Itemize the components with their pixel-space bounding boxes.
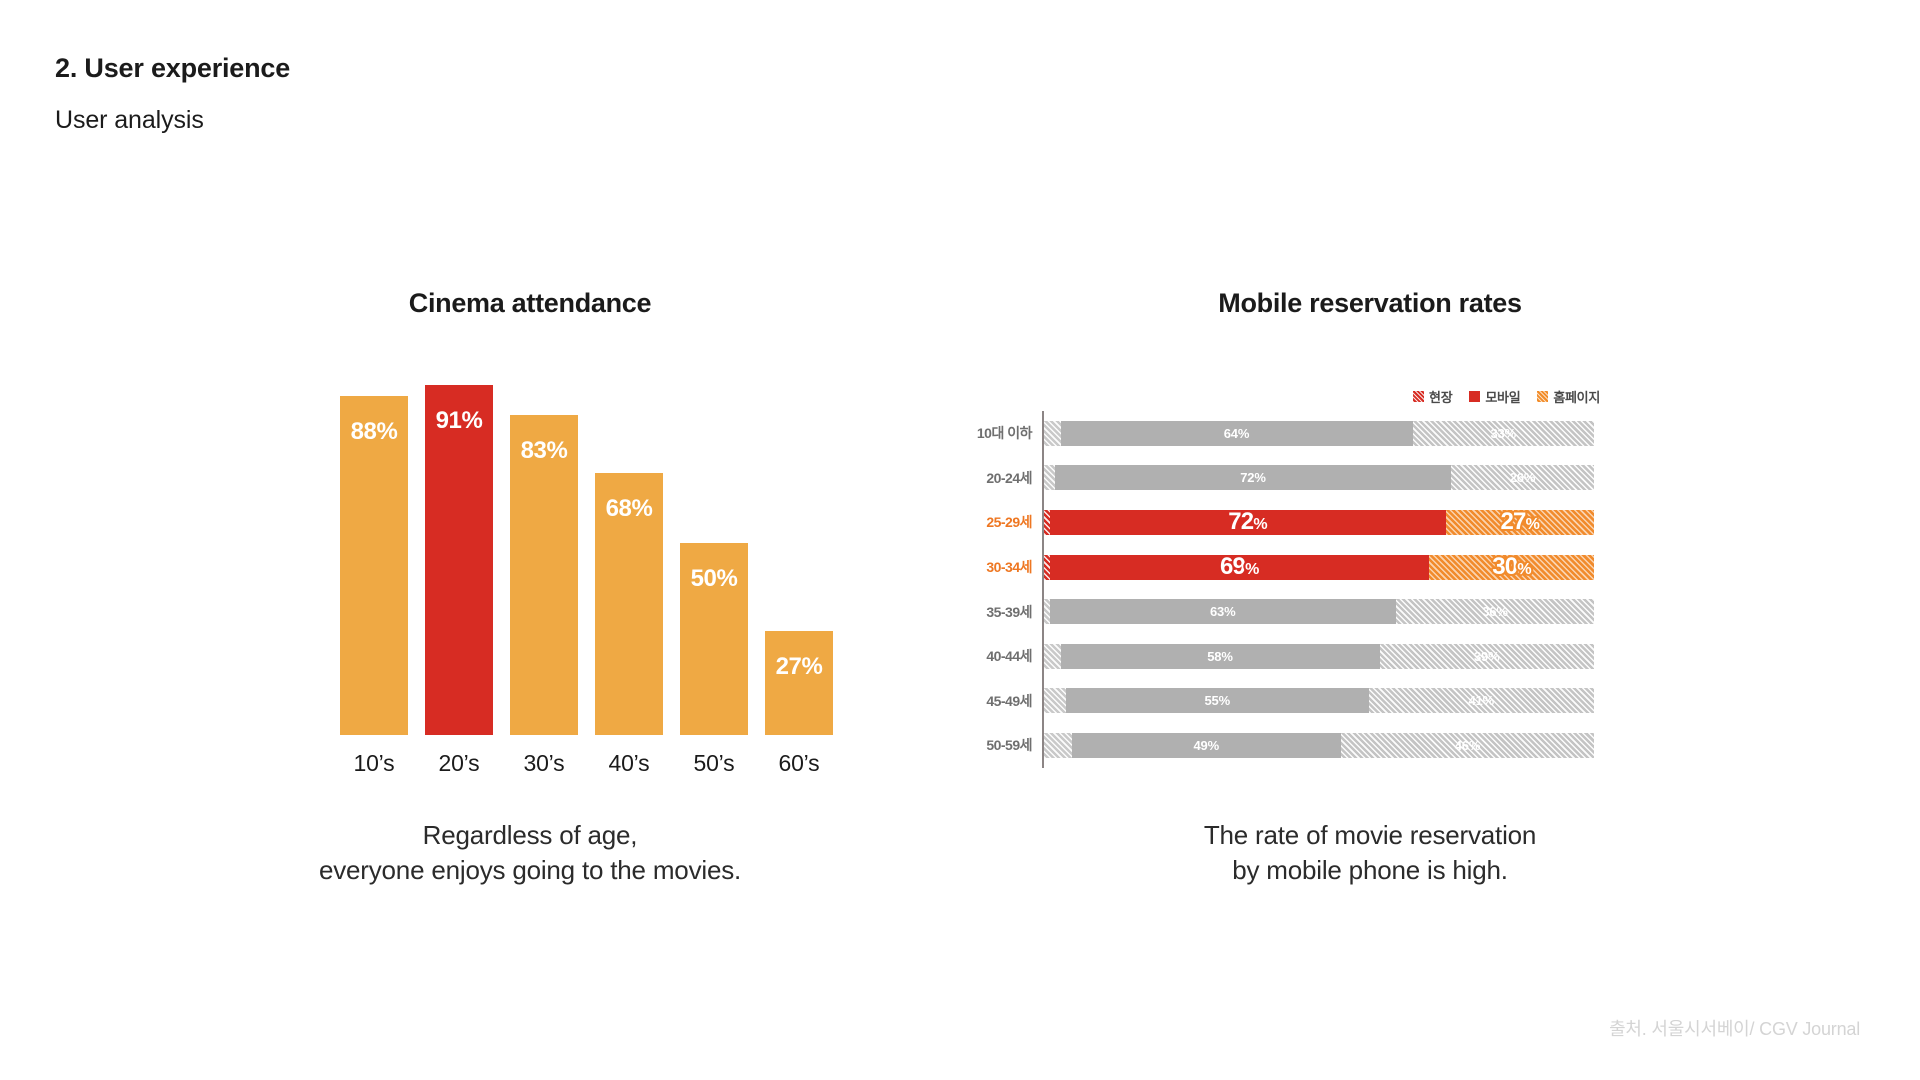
segment-value-label: 72% [1240, 470, 1265, 485]
stacked-bar-track: 72%26% [1044, 465, 1594, 490]
segment-homepage: 36% [1396, 599, 1594, 624]
segment-onsite [1044, 644, 1061, 669]
stacked-bar-row[interactable]: 25-29세72%27% [960, 500, 1600, 545]
stacked-bar-row-label: 45-49세 [960, 691, 1038, 711]
column-bar: 68% [595, 473, 663, 735]
column-bar: 88% [340, 396, 408, 735]
chart-title-mobile-reservation: Mobile reservation rates [900, 288, 1840, 319]
caption-line-1: Regardless of age, [120, 818, 940, 853]
column-axis-label: 30’s [510, 750, 578, 777]
column-axis-label: 50’s [680, 750, 748, 777]
stacked-bar-row[interactable]: 10대 이하64%33% [960, 411, 1600, 456]
segment-mobile: 72% [1050, 510, 1446, 535]
column-chart: 88%91%83%68%50%27% [340, 350, 850, 735]
segment-onsite [1044, 733, 1072, 758]
stacked-bar-row-label: 30-34세 [960, 557, 1038, 577]
stacked-bar-row[interactable]: 50-59세49%46% [960, 723, 1600, 768]
stacked-bar-track: 72%27% [1044, 510, 1594, 535]
column-bar-group: 68% [595, 350, 663, 735]
segment-value-label: 49% [1194, 738, 1219, 753]
segment-mobile: 69% [1050, 555, 1430, 580]
stacked-bar-row-label: 40-44세 [960, 646, 1038, 666]
stacked-bar-track: 49%46% [1044, 733, 1594, 758]
segment-mobile: 63% [1050, 599, 1397, 624]
segment-value-label: 30% [1492, 555, 1531, 579]
segment-value-label: 46% [1455, 738, 1480, 753]
stacked-bar-rows: 10대 이하64%33%20-24세72%26%25-29세72%27%30-3… [960, 411, 1600, 768]
segment-homepage: 30% [1429, 555, 1594, 580]
legend-label: 모바일 [1485, 387, 1520, 406]
segment-value-label: 26% [1510, 470, 1535, 485]
caption-line-1: The rate of movie reservation [900, 818, 1840, 853]
column-bar-group: 91% [425, 350, 493, 735]
segment-homepage: 39% [1380, 644, 1595, 669]
column-bar-group: 50% [680, 350, 748, 735]
page-subtitle: User analysis [55, 105, 290, 135]
legend-swatch-icon [1469, 391, 1480, 402]
stacked-bar-row[interactable]: 35-39세63%36% [960, 589, 1600, 634]
column-axis-label: 10’s [340, 750, 408, 777]
segment-onsite [1044, 465, 1055, 490]
stacked-bar-track: 55%41% [1044, 688, 1594, 713]
column-bar-group: 27% [765, 350, 833, 735]
segment-value-label: 33% [1491, 426, 1516, 441]
stacked-bar-row[interactable]: 30-34세69%30% [960, 545, 1600, 590]
segment-value-label: 58% [1207, 649, 1232, 664]
legend-swatch-icon [1537, 391, 1548, 402]
legend-item[interactable]: 모바일 [1469, 387, 1520, 406]
stacked-bar-row-label: 50-59세 [960, 735, 1038, 755]
segment-value-label: 69% [1220, 555, 1259, 579]
stacked-bar-row-label: 20-24세 [960, 468, 1038, 488]
segment-value-label: 36% [1482, 604, 1507, 619]
stacked-bar-row-label: 25-29세 [960, 512, 1038, 532]
segment-mobile: 64% [1061, 421, 1413, 446]
segment-mobile: 58% [1061, 644, 1380, 669]
chart-legend: 현장모바일홈페이지 [1413, 385, 1600, 407]
stacked-bar-row-label: 35-39세 [960, 602, 1038, 622]
segment-value-label: 63% [1210, 604, 1235, 619]
column-bar: 91% [425, 385, 493, 735]
column-chart-x-axis: 10’s20’s30’s40’s50’s60’s [340, 750, 850, 784]
column-bar-value: 88% [340, 418, 408, 446]
source-attribution: 출처. 서울시서베이/ CGV Journal [1609, 1015, 1860, 1041]
segment-onsite [1044, 421, 1061, 446]
column-bar-value: 68% [595, 495, 663, 523]
column-bar-group: 88% [340, 350, 408, 735]
column-bar: 83% [510, 415, 578, 735]
legend-item[interactable]: 홈페이지 [1537, 387, 1600, 406]
segment-homepage: 27% [1446, 510, 1595, 535]
stacked-bar-track: 69%30% [1044, 555, 1594, 580]
legend-item[interactable]: 현장 [1413, 387, 1452, 406]
stacked-bar-row[interactable]: 45-49세55%41% [960, 679, 1600, 724]
segment-homepage: 33% [1413, 421, 1595, 446]
segment-mobile: 55% [1066, 688, 1369, 713]
slide-header: 2. User experience User analysis [55, 52, 290, 135]
segment-value-label: 39% [1474, 649, 1499, 664]
segment-value-label: 55% [1205, 693, 1230, 708]
segment-onsite [1044, 688, 1066, 713]
column-bar-value: 83% [510, 437, 578, 465]
caption-line-2: by mobile phone is high. [900, 853, 1840, 888]
caption-line-2: everyone enjoys going to the movies. [120, 853, 940, 888]
legend-swatch-icon [1413, 391, 1424, 402]
segment-homepage: 26% [1451, 465, 1594, 490]
segment-mobile: 49% [1072, 733, 1342, 758]
segment-mobile: 72% [1055, 465, 1451, 490]
column-bar-value: 91% [425, 407, 493, 435]
column-axis-label: 40’s [595, 750, 663, 777]
segment-value-label: 41% [1469, 693, 1494, 708]
segment-value-label: 27% [1500, 510, 1539, 534]
column-bar-group: 83% [510, 350, 578, 735]
column-axis-label: 60’s [765, 750, 833, 777]
segment-homepage: 46% [1341, 733, 1594, 758]
stacked-bar-row-label: 10대 이하 [960, 423, 1038, 443]
column-bar: 50% [680, 543, 748, 736]
stacked-bar-row[interactable]: 20-24세72%26% [960, 456, 1600, 501]
stacked-bar-row[interactable]: 40-44세58%39% [960, 634, 1600, 679]
page-title: 2. User experience [55, 52, 290, 84]
caption-mobile-reservation: The rate of movie reservation by mobile … [900, 818, 1840, 888]
segment-value-label: 64% [1224, 426, 1249, 441]
legend-label: 홈페이지 [1553, 387, 1600, 406]
legend-label: 현장 [1429, 387, 1452, 406]
chart-title-cinema-attendance: Cinema attendance [120, 288, 940, 319]
caption-cinema-attendance: Regardless of age, everyone enjoys going… [120, 818, 940, 888]
stacked-bar-track: 64%33% [1044, 421, 1594, 446]
stacked-bar-track: 58%39% [1044, 644, 1594, 669]
column-bar: 27% [765, 631, 833, 735]
stacked-bar-track: 63%36% [1044, 599, 1594, 624]
column-bar-value: 50% [680, 565, 748, 593]
column-bar-value: 27% [765, 653, 833, 681]
segment-homepage: 41% [1369, 688, 1595, 713]
column-axis-label: 20’s [425, 750, 493, 777]
segment-value-label: 72% [1228, 510, 1267, 534]
stacked-bar-chart: 현장모바일홈페이지 10대 이하64%33%20-24세72%26%25-29세… [960, 385, 1600, 780]
slide-canvas: 2. User experience User analysis Cinema … [0, 0, 1920, 1080]
